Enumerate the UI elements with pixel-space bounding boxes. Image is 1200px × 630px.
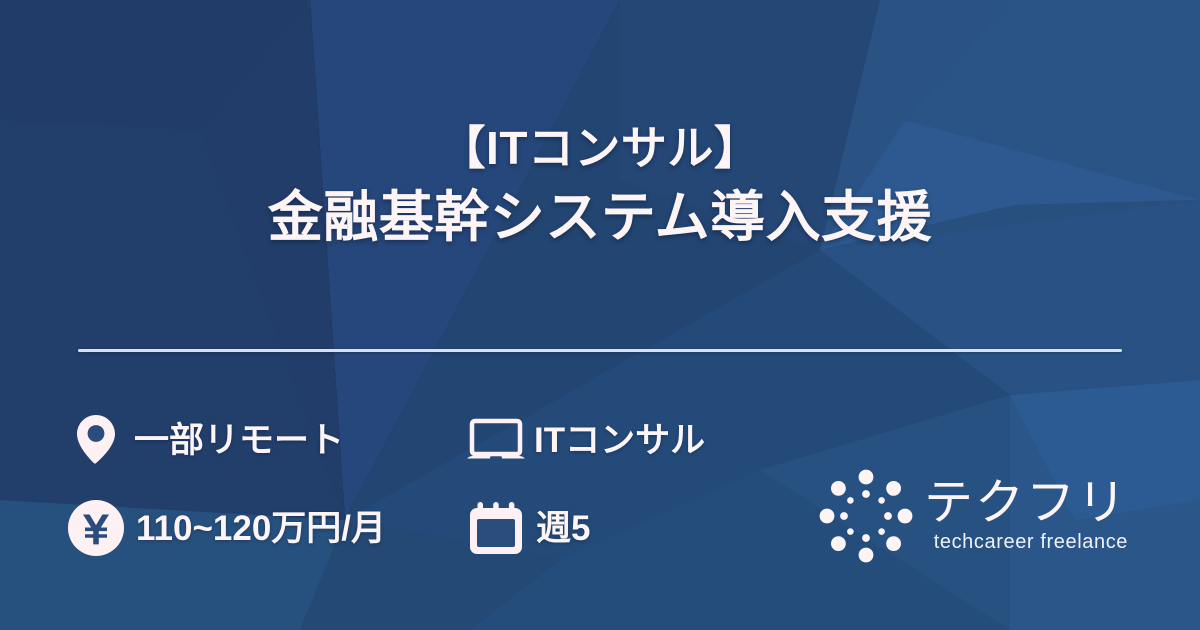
- laptop-icon: [466, 418, 526, 462]
- meta-label-work-style: 一部リモート: [134, 423, 344, 458]
- meta-label-job-category: ITコンサル: [534, 423, 705, 458]
- yen-circle-icon: [66, 499, 126, 557]
- job-meta-list: 一部リモート ITコンサル: [66, 396, 705, 572]
- calendar-icon: [466, 500, 526, 556]
- meta-item-job-category: ITコンサル: [466, 418, 705, 462]
- meta-label-workdays: 週5: [536, 511, 590, 546]
- title-line-2: 金融基幹システム導入支援: [0, 184, 1200, 250]
- title-line-1: 【ITコンサル】: [0, 118, 1200, 178]
- meta-item-work-style: 一部リモート: [66, 414, 466, 466]
- logo-text-en: techcareer freelance: [924, 530, 1128, 554]
- meta-item-salary: 110~120万円/月: [66, 499, 466, 557]
- location-pin-icon: [66, 414, 126, 466]
- page-title: 【ITコンサル】 金融基幹システム導入支援: [0, 118, 1200, 250]
- dot-ring-logo-mark: [818, 468, 914, 564]
- meta-label-salary: 110~120万円/月: [136, 511, 386, 546]
- horizontal-divider: [78, 349, 1122, 352]
- brand-logo: テクフリ techcareer freelance: [818, 468, 1128, 564]
- logo-text-jp: テクフリ: [924, 478, 1128, 528]
- meta-item-workdays: 週5: [466, 500, 705, 556]
- job-banner-card: 【ITコンサル】 金融基幹システム導入支援 一部リモート: [0, 0, 1200, 630]
